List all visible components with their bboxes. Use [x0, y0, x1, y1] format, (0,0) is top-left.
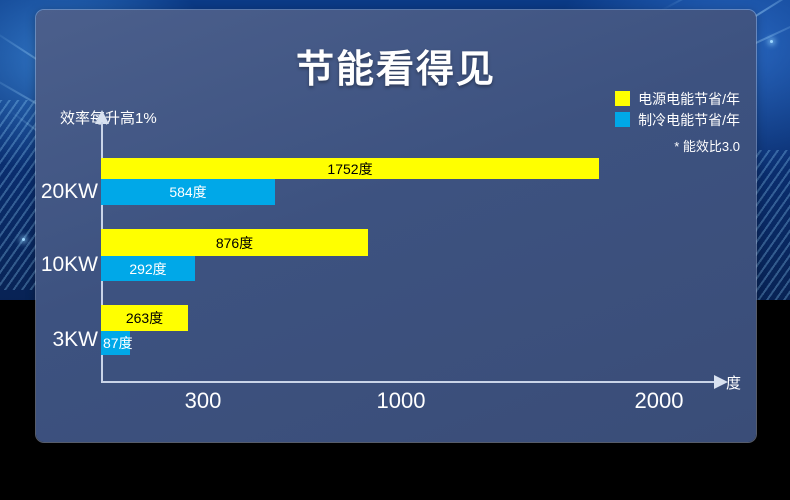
- y-tick-20kw: 20KW: [36, 180, 98, 204]
- bar-row: 584度: [101, 179, 275, 205]
- screenshot-stage: 节能看得见 电源电能节省/年 制冷电能节省/年 * 能效比3.0 效率每升高1%…: [0, 0, 790, 500]
- legend-item-power: 电源电能节省/年: [615, 89, 740, 108]
- x-tick-2000: 2000: [614, 388, 704, 414]
- legend-label-power: 电源电能节省/年: [638, 89, 740, 109]
- y-tick-3kw: 3KW: [36, 328, 98, 352]
- legend-item-cooling: 制冷电能节省/年: [615, 110, 740, 129]
- background-dot: [22, 238, 25, 241]
- bar-row: 1752度: [101, 158, 599, 179]
- bar-value-label: 292度: [129, 259, 166, 279]
- x-axis-title: 度: [726, 372, 741, 393]
- y-tick-10kw: 10KW: [36, 253, 98, 277]
- x-tick-1000: 1000: [356, 388, 446, 414]
- page-title: 节能看得见: [36, 38, 756, 93]
- legend-swatch-yellow-icon: [615, 91, 630, 106]
- bar-value-label: 1752度: [327, 159, 372, 179]
- legend-note: * 能效比3.0: [615, 136, 740, 155]
- background-dot: [770, 40, 773, 43]
- legend-swatch-blue-icon: [615, 112, 630, 127]
- bar-value-label: 263度: [126, 308, 163, 328]
- legend-label-cooling: 制冷电能节省/年: [638, 110, 740, 130]
- bar-value-label: 87度: [103, 333, 133, 353]
- bar-value-label: 584度: [169, 182, 206, 202]
- bar-row: 292度: [101, 256, 195, 281]
- bar-row: 263度: [101, 305, 188, 331]
- bar-value-label: 876度: [216, 233, 253, 253]
- x-tick-300: 300: [158, 388, 248, 414]
- chart-panel: 节能看得见 电源电能节省/年 制冷电能节省/年 * 能效比3.0 效率每升高1%…: [36, 10, 756, 442]
- bar-row: 87度: [101, 331, 130, 355]
- chart-legend: 电源电能节省/年 制冷电能节省/年 * 能效比3.0: [615, 89, 740, 155]
- x-axis-line: [101, 381, 716, 383]
- bar-row: 876度: [101, 229, 368, 256]
